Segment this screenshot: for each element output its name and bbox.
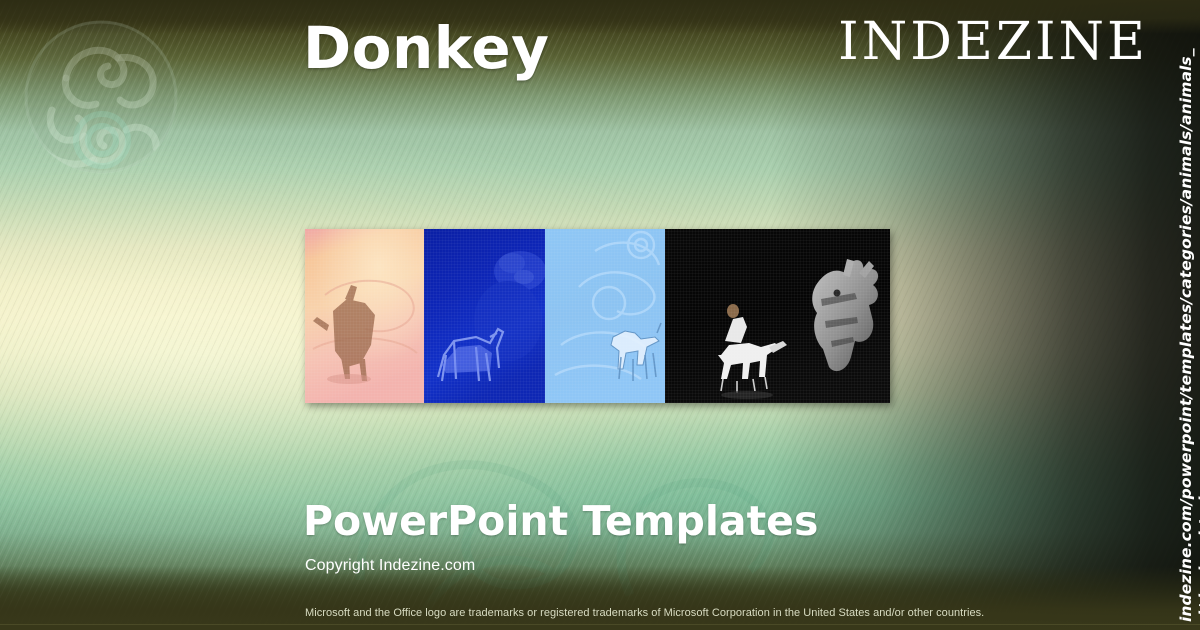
slide-canvas: Donkey INDEZINE indezine.com/powerpoint/… <box>0 0 1200 630</box>
footer-divider <box>0 624 1200 625</box>
thumbnail-donkey-black-widescreen[interactable] <box>665 229 890 403</box>
template-thumbnail-strip <box>305 229 890 403</box>
trademark-disclaimer: Microsoft and the Office logo are tradem… <box>305 607 984 619</box>
subtitle: PowerPoint Templates <box>303 497 818 545</box>
thumbnail-donkey-sky-blue[interactable] <box>545 229 665 403</box>
indezine-logo: INDEZINE <box>838 12 1148 72</box>
thumbnail-donkey-deep-blue[interactable] <box>424 229 545 403</box>
thumbnail-donkey-desert-sunset[interactable] <box>305 229 424 403</box>
celtic-spiral-emblem-icon <box>22 18 180 176</box>
background-bottom-band <box>0 566 1200 630</box>
page-title: Donkey <box>303 14 549 82</box>
copyright-text: Copyright Indezine.com <box>305 557 475 575</box>
url-watermark-line-1: indezine.com/powerpoint/templates/catego… <box>1177 48 1195 622</box>
url-watermark-line-2: d/donkey.html <box>1196 496 1200 622</box>
